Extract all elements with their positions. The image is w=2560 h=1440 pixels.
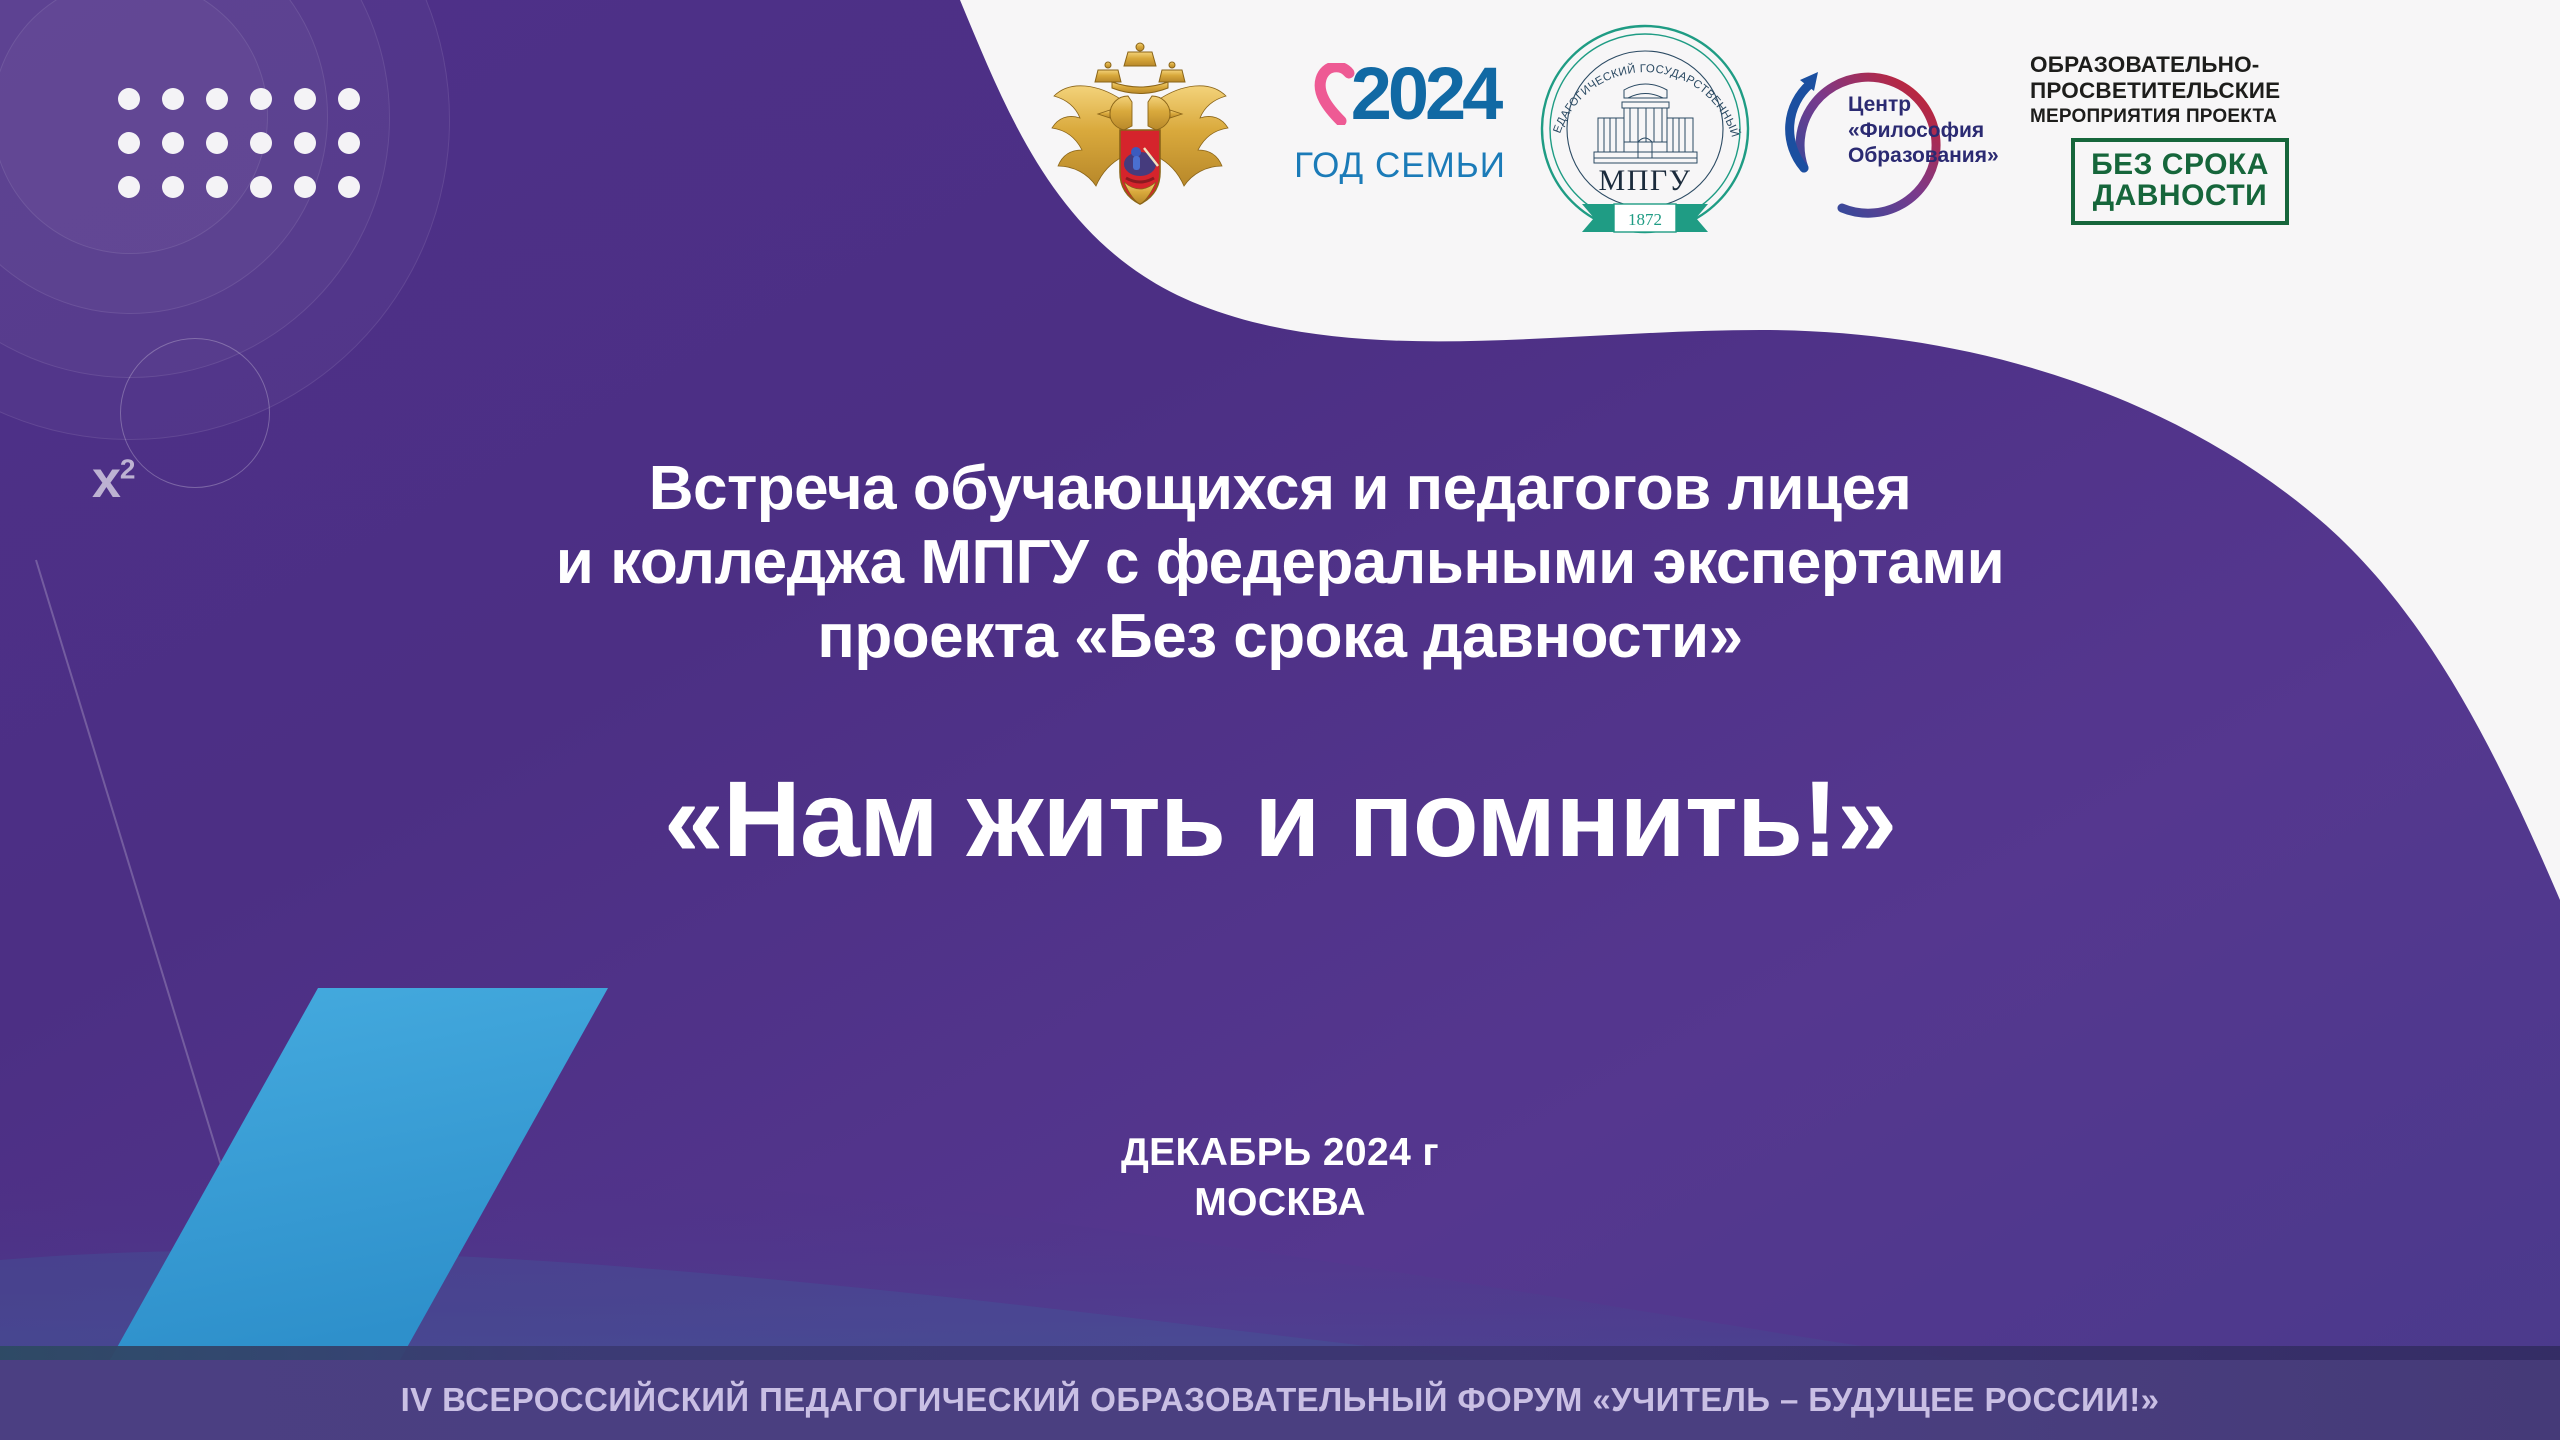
grid-dot	[338, 88, 360, 110]
banner-label: IV ВСЕРОССИЙСКИЙ ПЕДАГОГИЧЕСКИЙ ОБРАЗОВА…	[401, 1381, 2160, 1419]
logo-philosophy-center: Центр «Философия Образования»	[1760, 22, 2030, 230]
grid-dot	[294, 88, 316, 110]
blue-parallelogram-decoration	[0, 860, 760, 1360]
meta-date: ДЕКАБРЬ 2024 г	[0, 1128, 2560, 1178]
logo-mpgu-seal: МОСКОВСКИЙ ПЕДАГОГИЧЕСКИЙ ГОСУДАРСТВЕННЫ…	[1530, 22, 1760, 237]
double-headed-eagle-icon	[1040, 22, 1240, 222]
slide-headline: «Нам жить и помнить!»	[0, 760, 2560, 879]
grid-dot	[118, 132, 140, 154]
svg-text:МПГУ: МПГУ	[1598, 164, 1691, 197]
center-line-1: Центр	[1848, 92, 2028, 118]
family-logo-row: 2024	[1301, 48, 1500, 140]
bsd-head-line-2: ПРОСВЕТИТЕЛЬСКИЕ	[2030, 78, 2330, 104]
bsd-heading: ОБРАЗОВАТЕЛЬНО- ПРОСВЕТИТЕЛЬСКИЕ	[2030, 52, 2330, 103]
family-year-label: 2024	[1351, 57, 1500, 131]
bsd-stamp-line-2: ДАВНОСТИ	[2089, 181, 2271, 212]
slide-title: Встреча обучающихся и педагогов лицея и …	[0, 452, 2560, 673]
family-caption-label: ГОД СЕМЬИ	[1294, 146, 1506, 186]
mpgu-seal-icon: МОСКОВСКИЙ ПЕДАГОГИЧЕСКИЙ ГОСУДАРСТВЕННЫ…	[1538, 22, 1753, 237]
bsd-head-line-1: ОБРАЗОВАТЕЛЬНО-	[2030, 52, 2330, 78]
grid-dot	[206, 176, 228, 198]
grid-dot	[206, 88, 228, 110]
grid-dot	[118, 176, 140, 198]
center-line-3: Образования»	[1848, 143, 2028, 169]
heart-icon	[1301, 63, 1357, 125]
center-logo-graphic: Центр «Философия Образования»	[1770, 40, 2020, 230]
title-line-3: проекта «Без срока давности»	[0, 600, 2560, 674]
center-logo-text: Центр «Философия Образования»	[1848, 92, 2028, 169]
grid-dot	[294, 132, 316, 154]
svg-text:МОСКОВСКИЙ ПЕДАГОГИЧЕСКИЙ ГОСУ: МОСКОВСКИЙ ПЕДАГОГИЧЕСКИЙ ГОСУДАРСТВЕННЫ…	[1538, 22, 1742, 139]
svg-text:1872: 1872	[1628, 210, 1662, 229]
center-line-2: «Философия	[1848, 118, 2028, 144]
grid-dot	[250, 132, 272, 154]
grid-dot	[118, 88, 140, 110]
bsd-stamp: БЕЗ СРОКА ДАВНОСТИ	[2071, 138, 2289, 225]
grid-dot	[338, 176, 360, 198]
banner-top-strip	[0, 1346, 2560, 1360]
grid-dot	[250, 88, 272, 110]
grid-dot	[294, 176, 316, 198]
dot-grid-decoration	[118, 88, 360, 198]
grid-dot	[162, 132, 184, 154]
title-line-2: и колледжа МПГУ с федеральными экспертам…	[0, 526, 2560, 600]
logo-bez-sroka-davnosti: ОБРАЗОВАТЕЛЬНО- ПРОСВЕТИТЕЛЬСКИЕ МЕРОПРИ…	[2030, 22, 2330, 225]
grid-dot	[162, 88, 184, 110]
logo-russian-coat-of-arms	[1010, 22, 1270, 222]
slide-meta: ДЕКАБРЬ 2024 г МОСКВА	[0, 1128, 2560, 1228]
logo-strip: 2024 ГОД СЕМЬИ МОСКОВСКИЙ ПЕДАГОГИЧЕСКИЙ…	[1010, 22, 2530, 252]
grid-dot	[250, 176, 272, 198]
bsd-stamp-line-1: БЕЗ СРОКА	[2089, 150, 2271, 181]
grid-dot	[338, 132, 360, 154]
grid-dot	[162, 176, 184, 198]
bottom-banner: IV ВСЕРОССИЙСКИЙ ПЕДАГОГИЧЕСКИЙ ОБРАЗОВА…	[0, 1360, 2560, 1440]
presentation-slide: x2	[0, 0, 2560, 1440]
bsd-subheading: МЕРОПРИЯТИЯ ПРОЕКТА	[2030, 106, 2330, 128]
meta-city: МОСКВА	[0, 1178, 2560, 1228]
grid-dot	[206, 132, 228, 154]
title-line-1: Встреча обучающихся и педагогов лицея	[0, 452, 2560, 526]
logo-year-of-family: 2024 ГОД СЕМЬИ	[1270, 22, 1530, 186]
